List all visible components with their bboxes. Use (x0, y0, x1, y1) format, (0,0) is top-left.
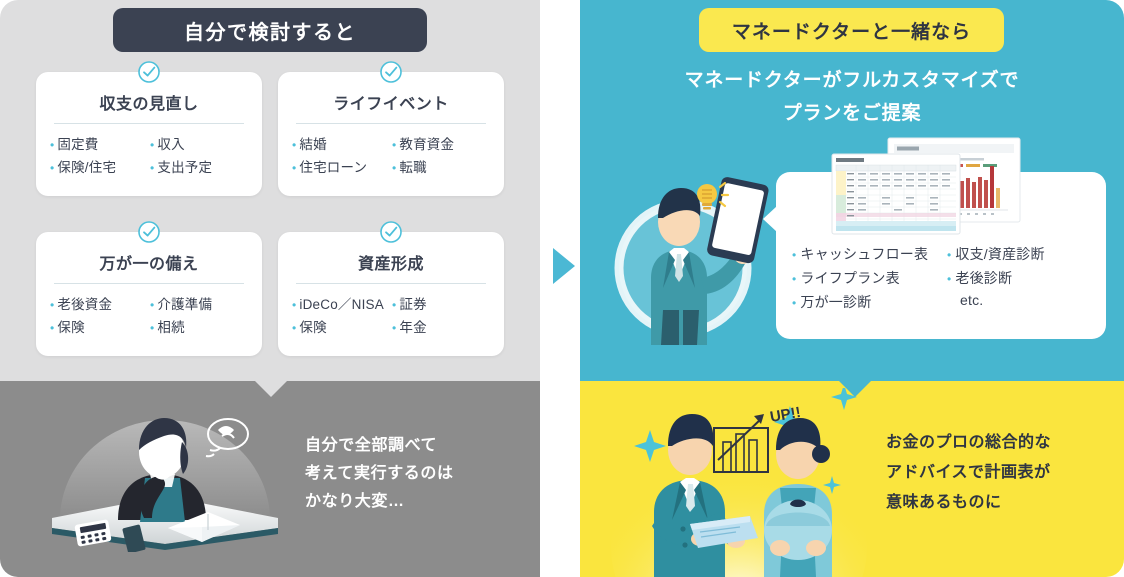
left-card-title: 収支の見直し (36, 90, 262, 114)
divider-rule (54, 123, 244, 124)
check-circle-icon (379, 60, 403, 84)
right-arrow-triangle-icon (553, 248, 575, 284)
list-item: 相続 (150, 316, 248, 336)
cashflow-spreadsheet-screenshot (832, 154, 960, 234)
panel-divider (540, 0, 580, 577)
client-figure (764, 418, 832, 577)
left-card-list: 結婚 教育資金 住宅ローン 転職 (292, 133, 490, 176)
divider-rule (54, 283, 244, 284)
divider-rule (296, 123, 486, 124)
right-subtitle-line: マネードクターがフルカスタマイズで (580, 64, 1124, 97)
right-panel-with-advisor: マネードクターと一緒なら マネードクターがフルカスタマイズで プランをご提案 (580, 0, 1124, 577)
list-item: 収支/資産診断 (947, 244, 1045, 264)
left-panel-notch-triangle (255, 381, 287, 397)
list-item: 万が一診断 (792, 292, 947, 312)
check-circle-icon (137, 220, 161, 244)
advisor-and-client-with-up-chart-illustration: UP!! (594, 388, 884, 577)
list-item: 保険/住宅 (50, 156, 148, 176)
worried-woman-at-desk-illustration (40, 392, 290, 552)
list-item: 住宅ローン (292, 156, 390, 176)
list-item: 収入 (150, 133, 248, 153)
list-item: 保険 (292, 316, 390, 336)
left-card-title: ライフイベント (278, 90, 504, 114)
left-footer-line: 考えて実行するのは (305, 460, 454, 488)
left-footer-text: 自分で全部調べて 考えて実行するのは かなり大変… (305, 432, 454, 516)
list-item: 証券 (392, 293, 490, 313)
left-card-title: 万が一の備え (36, 250, 262, 274)
right-footer-text: お金のプロの総合的な アドバイスで計画表が 意味あるものに (886, 428, 1051, 518)
left-footer-line: かなり大変… (305, 488, 454, 516)
left-panel-diy: 自分で検討すると 収支の見直し 固定費 収入 保険/住宅 支出予定 ライフイベ (0, 0, 540, 577)
list-item: 教育資金 (392, 133, 490, 153)
left-title-text: 自分で検討すると (184, 16, 356, 45)
left-card-life-event[interactable]: ライフイベント 結婚 教育資金 住宅ローン 転職 (278, 72, 504, 196)
left-card-list: 老後資金 介護準備 保険 相続 (50, 293, 248, 336)
list-item: 転職 (392, 156, 490, 176)
right-subtitle: マネードクターがフルカスタマイズで プランをご提案 (580, 64, 1124, 130)
list-item: 介護準備 (150, 293, 248, 313)
left-card-asset-building[interactable]: 資産形成 iDeCo／NISA 証券 保険 年金 (278, 232, 504, 356)
divider-rule (296, 283, 486, 284)
list-item: iDeCo／NISA (292, 293, 390, 313)
check-circle-icon (137, 60, 161, 84)
list-item: ライフプラン表 (792, 268, 947, 288)
left-card-list: 固定費 収入 保険/住宅 支出予定 (50, 133, 248, 176)
right-footer-line: 意味あるものに (886, 488, 1051, 518)
list-item-etc: etc. (947, 292, 1045, 312)
list-item: 老後資金 (50, 293, 148, 313)
right-panel-notch-triangle (839, 381, 871, 397)
list-item: 保険 (50, 316, 148, 336)
right-subtitle-line: プランをご提案 (580, 97, 1124, 130)
list-item: 年金 (392, 316, 490, 336)
businessman-with-tablet-and-lightbulb-illustration (605, 160, 785, 345)
list-item: 支出予定 (150, 156, 248, 176)
list-item: 結婚 (292, 133, 390, 153)
check-circle-icon (379, 220, 403, 244)
left-card-title: 資産形成 (278, 250, 504, 274)
left-title-pill: 自分で検討すると (113, 8, 427, 52)
speech-bubble-tail (763, 206, 777, 232)
left-card-list: iDeCo／NISA 証券 保険 年金 (292, 293, 490, 336)
plan-screenshots-mockup (830, 136, 1030, 236)
comparison-infographic: 自分で検討すると 収支の見直し 固定費 収入 保険/住宅 支出予定 ライフイベ (0, 0, 1124, 577)
left-card-emergency[interactable]: 万が一の備え 老後資金 介護準備 保険 相続 (36, 232, 262, 356)
right-badge-text: マネードクターと一緒なら (732, 17, 971, 44)
right-badge-pill: マネードクターと一緒なら (699, 8, 1004, 52)
list-item: キャッシュフロー表 (792, 244, 947, 264)
list-item: 固定費 (50, 133, 148, 153)
right-footer-line: アドバイスで計画表が (886, 458, 1051, 488)
list-item: 老後診断 (947, 268, 1045, 288)
right-footer-line: お金のプロの総合的な (886, 428, 1051, 458)
left-footer-line: 自分で全部調べて (305, 432, 454, 460)
right-features-list: キャッシュフロー表 収支/資産診断 ライフプラン表 老後診断 万が一診断 etc… (792, 244, 1045, 312)
left-card-shuushi[interactable]: 収支の見直し 固定費 収入 保険/住宅 支出予定 (36, 72, 262, 196)
